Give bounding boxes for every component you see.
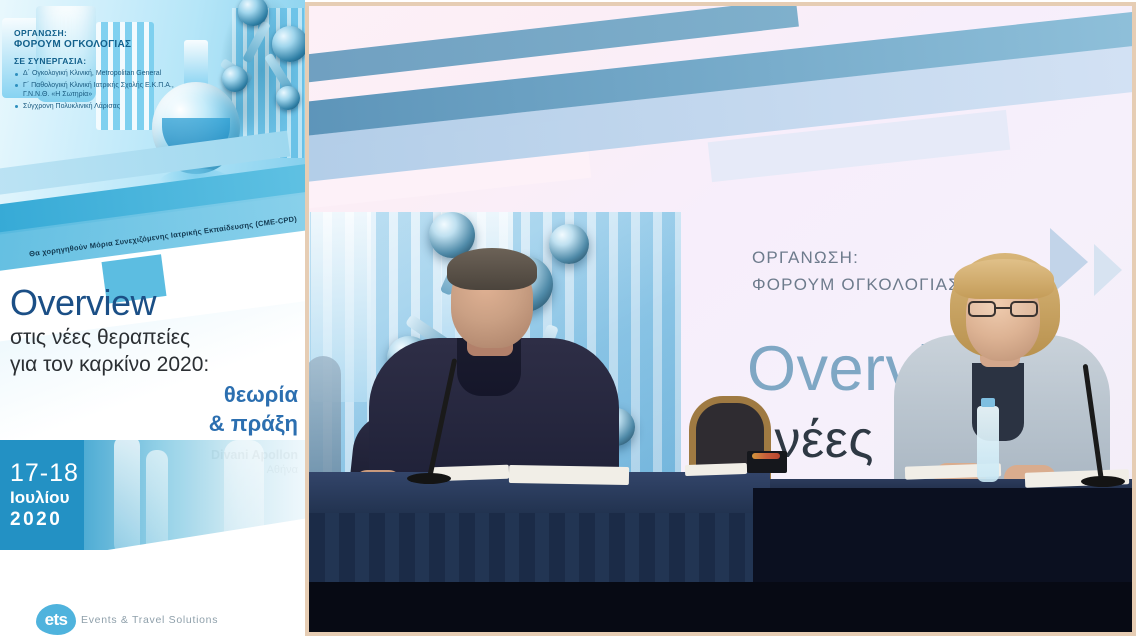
organization-label: ΟΡΓΑΝΩΣΗ: bbox=[14, 28, 131, 39]
event-date-badge: 17-18 Ιουλίου 2020 bbox=[0, 440, 84, 550]
poster-accent-1: θεωρία bbox=[10, 382, 298, 407]
collaboration-heading: ΣΕ ΣΥΝΕΡΓΑΣΙΑ: bbox=[14, 56, 174, 66]
organization-block: ΟΡΓΑΝΩΣΗ: ΦΟΡΟΥΜ ΟΓΚΟΛΟΓΙΑΣ bbox=[14, 28, 131, 51]
page-title: Overview bbox=[10, 282, 298, 324]
screenshot-root: Θα χορηγηθούν Μόρια Συνεχιζόμενης Ιατρικ… bbox=[0, 0, 1138, 640]
conference-poster-panel: Θα χορηγηθούν Μόρια Συνεχιζόμενης Ιατρικ… bbox=[0, 0, 305, 640]
video-content: ΟΡΓΑΝΩΣΗ: ΦΟΡΟΥΜ ΟΓΚΟΛΟΓΙΑΣ Overview ς ν… bbox=[309, 6, 1132, 632]
video-player-frame[interactable]: ΟΡΓΑΝΩΣΗ: ΦΟΡΟΥΜ ΟΓΚΟΛΟΓΙΑΣ Overview ς ν… bbox=[305, 2, 1136, 636]
ets-logo-tagline: Events & Travel Solutions bbox=[81, 614, 218, 626]
speaker-left bbox=[349, 238, 639, 488]
collaboration-list: Δ΄ Ογκολογική Κλινική, Metropolitan Gene… bbox=[14, 69, 174, 111]
ets-logo-mark: ets bbox=[36, 604, 76, 635]
organization-name: ΦΟΡΟΥΜ ΟΓΚΟΛΟΓΙΑΣ bbox=[14, 39, 131, 51]
list-item: Σύγχρονη Πολυκλινική Λάρισας bbox=[14, 102, 174, 112]
papers-man bbox=[509, 465, 629, 485]
date-days: 17-18 bbox=[10, 459, 84, 487]
poster-subtitle-2: για τον καρκίνο 2020: bbox=[10, 351, 298, 378]
molecule-icon bbox=[216, 0, 305, 124]
poster-accent-2: & πράξη bbox=[10, 411, 298, 436]
poster-subtitle-1: στις νέες θεραπείες bbox=[10, 324, 298, 351]
stage-floor bbox=[309, 582, 1132, 632]
name-card bbox=[747, 451, 787, 473]
list-item: Γ΄ Παθολογική Κλινική Ιατρικής Σχολής Ε.… bbox=[14, 81, 174, 100]
eyeglasses-icon bbox=[968, 301, 1038, 317]
microphone-base-right bbox=[1081, 476, 1125, 487]
papers-center bbox=[685, 463, 747, 476]
ets-logo: ets Events & Travel Solutions bbox=[36, 604, 218, 635]
date-month: Ιουλίου bbox=[10, 487, 84, 508]
collaboration-block: ΣΕ ΣΥΝΕΡΓΑΣΙΑ: Δ΄ Ογκολογική Κλινική, Me… bbox=[14, 56, 174, 113]
ets-logo-text: ets bbox=[45, 611, 68, 628]
date-year: 2020 bbox=[10, 508, 84, 531]
water-bottle bbox=[977, 406, 999, 482]
list-item: Δ΄ Ογκολογική Κλινική, Metropolitan Gene… bbox=[14, 69, 174, 79]
speaker-right bbox=[876, 235, 1126, 485]
background-person-blur bbox=[309, 356, 341, 476]
